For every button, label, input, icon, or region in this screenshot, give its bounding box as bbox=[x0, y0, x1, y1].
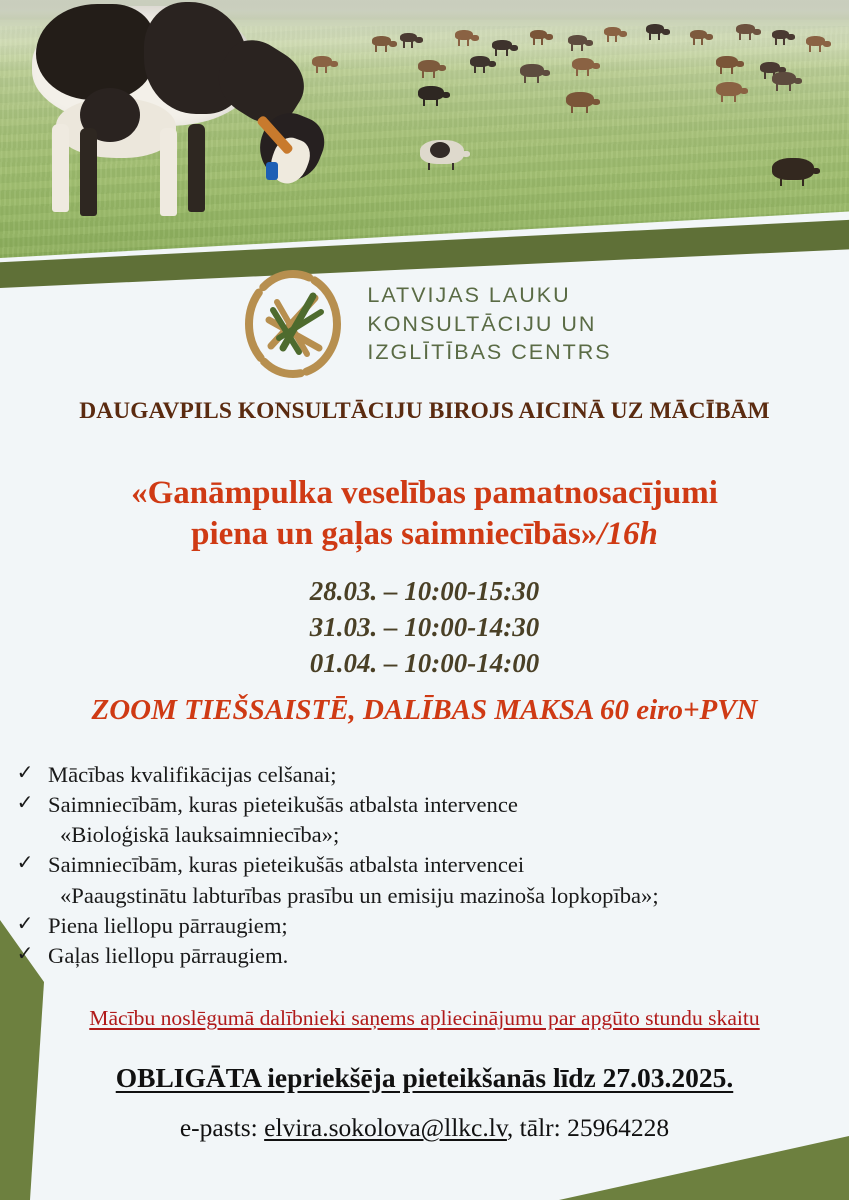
contact-email[interactable]: elvira.sokolova@llkc.lv bbox=[264, 1113, 507, 1142]
distant-cow bbox=[400, 33, 417, 42]
audience-list: ✓ Mācības kvalifikācijas celšanai; ✓ Sai… bbox=[14, 760, 844, 971]
distant-cow bbox=[716, 82, 742, 96]
distant-cow bbox=[418, 86, 444, 100]
distant-cow bbox=[372, 36, 391, 46]
distant-cow bbox=[492, 40, 512, 50]
list-item: ✓ Gaļas liellopu pārraugiem. bbox=[14, 941, 844, 971]
distant-cow bbox=[646, 24, 664, 34]
distant-cow bbox=[604, 27, 621, 36]
list-item-text: Gaļas liellopu pārraugiem. bbox=[48, 941, 844, 971]
course-hours: /16h bbox=[597, 516, 658, 552]
list-item: ✓ Saimniecībām, kuras pieteikušās atbals… bbox=[14, 850, 844, 910]
foreground-cow bbox=[22, 2, 322, 232]
training-announcement-poster: LATVIJAS LAUKU KONSULTĀCIJU UN IZGLĪTĪBA… bbox=[0, 0, 849, 1200]
llkc-logo-mark bbox=[237, 268, 349, 380]
list-item-text: Mācības kvalifikācijas celšanai; bbox=[48, 760, 844, 790]
session-date: 28.03. – 10:00-15:30 bbox=[0, 574, 849, 610]
distant-cow bbox=[772, 72, 796, 85]
certificate-note: Mācību noslēgumā dalībnieki saņems aplie… bbox=[0, 1006, 849, 1031]
check-icon: ✓ bbox=[14, 760, 36, 787]
distant-cow bbox=[716, 56, 738, 68]
list-item: ✓ Piena liellopu pārraugiem; bbox=[14, 911, 844, 941]
session-date: 01.04. – 10:00-14:00 bbox=[0, 646, 849, 682]
list-item-main: Saimniecībām, kuras pieteikušās atbalsta… bbox=[48, 792, 518, 817]
check-icon: ✓ bbox=[14, 850, 36, 877]
course-title-line-1: «Ganāmpulka veselības pamatnosacījumi bbox=[0, 473, 849, 514]
logo-wordmark: LATVIJAS LAUKU KONSULTĀCIJU UN IZGLĪTĪBA… bbox=[367, 281, 611, 367]
distant-cow bbox=[572, 58, 594, 70]
check-icon: ✓ bbox=[14, 911, 36, 938]
session-date: 31.03. – 10:00-14:30 bbox=[0, 610, 849, 646]
logo-line-2: KONSULTĀCIJU UN bbox=[367, 310, 611, 339]
check-icon: ✓ bbox=[14, 941, 36, 968]
distant-cow bbox=[568, 35, 587, 45]
distant-cow bbox=[566, 92, 594, 107]
list-item: ✓ Saimniecībām, kuras pieteikušās atbals… bbox=[14, 790, 844, 850]
check-icon: ✓ bbox=[14, 790, 36, 817]
list-item-main: Saimniecībām, kuras pieteikušās atbalsta… bbox=[48, 852, 524, 877]
session-dates: 28.03. – 10:00-15:30 31.03. – 10:00-14:3… bbox=[0, 574, 849, 682]
list-item-continuation: «Paaugstinātu labturības prasību un emis… bbox=[48, 881, 844, 911]
distant-cow bbox=[760, 62, 780, 73]
registration-deadline: OBLIGĀTA iepriekšēja pieteikšanās līdz 2… bbox=[0, 1062, 849, 1094]
list-item-text: Saimniecībām, kuras pieteikušās atbalsta… bbox=[48, 850, 844, 910]
list-item-text: Saimniecībām, kuras pieteikušās atbalsta… bbox=[48, 790, 844, 850]
list-item-continuation: «Bioloģiskā lauksaimniecība»; bbox=[48, 820, 844, 850]
email-label: e-pasts: bbox=[180, 1113, 264, 1142]
distant-cow bbox=[530, 30, 547, 39]
distant-cow bbox=[418, 60, 440, 72]
distant-cow bbox=[772, 30, 789, 39]
list-item: ✓ Mācības kvalifikācijas celšanai; bbox=[14, 760, 844, 790]
distant-cow bbox=[430, 142, 450, 158]
distant-cow bbox=[520, 64, 544, 77]
organizer-header: DAUGAVPILS KONSULTĀCIJU BIROJS AICINĀ UZ… bbox=[0, 398, 849, 425]
logo-line-1: LATVIJAS LAUKU bbox=[367, 281, 611, 310]
distant-cow bbox=[455, 30, 473, 40]
hero-photo bbox=[0, 0, 849, 258]
phone-label: , tālr: bbox=[507, 1113, 567, 1142]
contact-line: e-pasts: elvira.sokolova@llkc.lv, tālr: … bbox=[0, 1113, 849, 1143]
logo-line-3: IZGLĪTĪBAS CENTRS bbox=[367, 338, 611, 367]
organization-logo: LATVIJAS LAUKU KONSULTĀCIJU UN IZGLĪTĪBA… bbox=[0, 268, 849, 380]
course-title-line-2: piena un gaļas saimniecībās»/16h bbox=[0, 514, 849, 555]
distant-cow bbox=[690, 30, 707, 39]
distant-cow bbox=[736, 24, 755, 34]
distant-cow bbox=[806, 36, 825, 46]
distant-cow bbox=[772, 158, 814, 180]
course-title-line-2-text: piena un gaļas saimniecībās» bbox=[191, 516, 597, 552]
course-title: «Ganāmpulka veselības pamatnosacījumi pi… bbox=[0, 473, 849, 554]
distant-cow bbox=[470, 56, 490, 67]
contact-phone[interactable]: 25964228 bbox=[567, 1113, 669, 1142]
delivery-and-price: ZOOM TIEŠSAISTĒ, DALĪBAS MAKSA 60 eiro+P… bbox=[0, 694, 849, 727]
list-item-text: Piena liellopu pārraugiem; bbox=[48, 911, 844, 941]
